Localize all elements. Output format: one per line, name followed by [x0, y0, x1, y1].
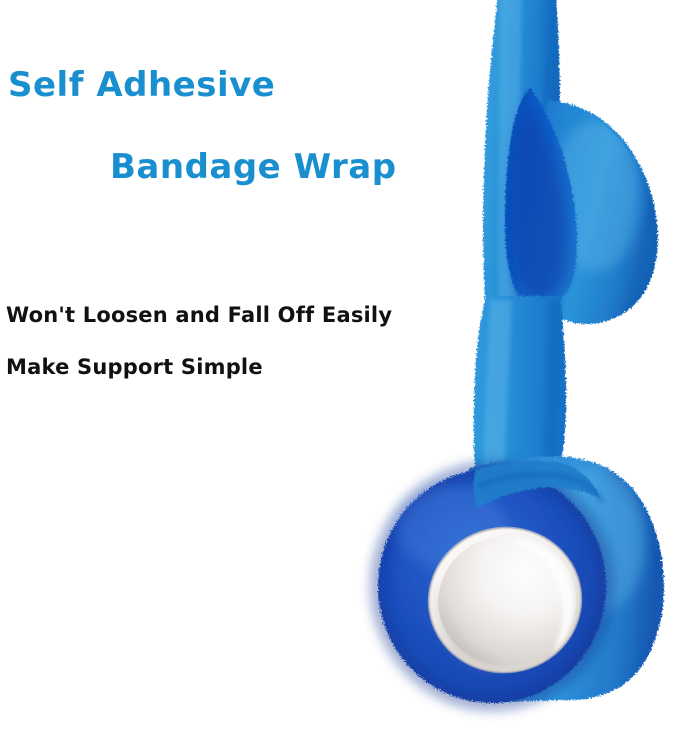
benefit-line-1: Won't Loosen and Fall Off Easily	[6, 305, 392, 326]
bandage-roll-side	[432, 456, 664, 702]
headline-line-2: Bandage Wrap	[110, 150, 397, 184]
benefit-line-2: Make Support Simple	[6, 357, 263, 378]
product-marketing-image: Self Adhesive Bandage Wrap Won't Loosen …	[0, 0, 679, 730]
bandage-roll-face	[378, 469, 606, 703]
loop-inner-fold	[505, 88, 577, 308]
headline-line-1: Self Adhesive	[8, 68, 275, 102]
roll-core	[420, 518, 591, 682]
folded-loop	[533, 100, 657, 324]
hanging-strip-upper	[483, 0, 560, 308]
roll-tail-overlap	[473, 461, 600, 508]
hanging-strip-lower	[474, 296, 566, 486]
